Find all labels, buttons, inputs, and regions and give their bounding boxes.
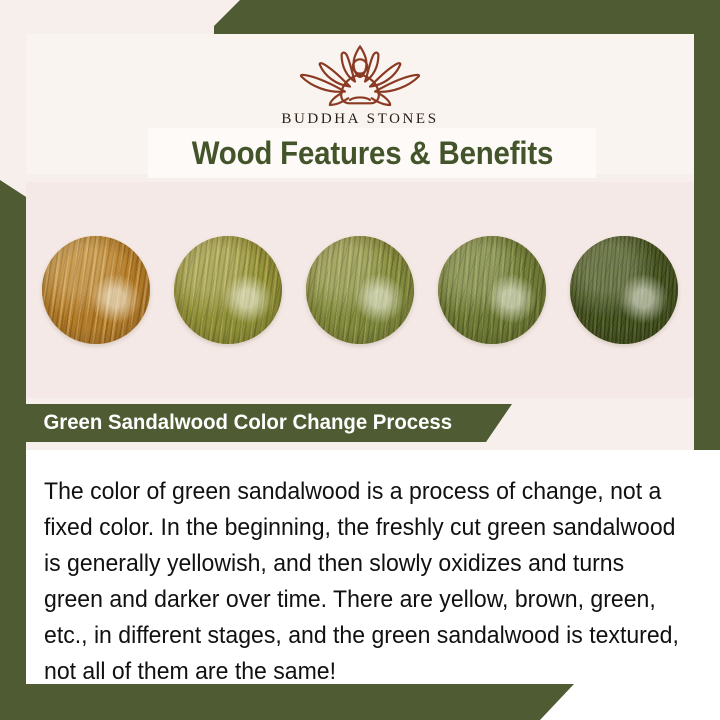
bead-stage-2	[174, 236, 282, 344]
bead-stage-1	[42, 236, 150, 344]
wood-grain-texture	[570, 236, 678, 344]
wood-grain-texture	[174, 236, 282, 344]
bead-stage-4	[438, 236, 546, 344]
page-title-plate: Wood Features & Benefits	[148, 128, 596, 178]
wood-grain-texture	[438, 236, 546, 344]
wood-grain-texture	[306, 236, 414, 344]
section-banner-label: Green Sandalwood Color Change Process	[26, 411, 452, 435]
left-green-rail	[0, 180, 26, 720]
page-title: Wood Features & Benefits	[191, 135, 552, 172]
wood-grain-texture	[42, 236, 150, 344]
lotus-meditation-icon	[275, 38, 445, 110]
bead-color-strip	[26, 182, 694, 398]
top-left-cream-cap	[0, 0, 26, 182]
infographic-page: BUDDHA STONES Wood Features & Benefits G…	[0, 0, 720, 720]
brand-name: BUDDHA STONES	[281, 111, 438, 128]
bead-stage-5	[570, 236, 678, 344]
bead-stage-3	[306, 236, 414, 344]
section-body-panel: The color of green sandalwood is a proce…	[26, 450, 720, 684]
section-banner: Green Sandalwood Color Change Process	[26, 404, 512, 442]
section-body-text: The color of green sandalwood is a proce…	[44, 474, 689, 690]
top-cream-band	[0, 0, 214, 34]
